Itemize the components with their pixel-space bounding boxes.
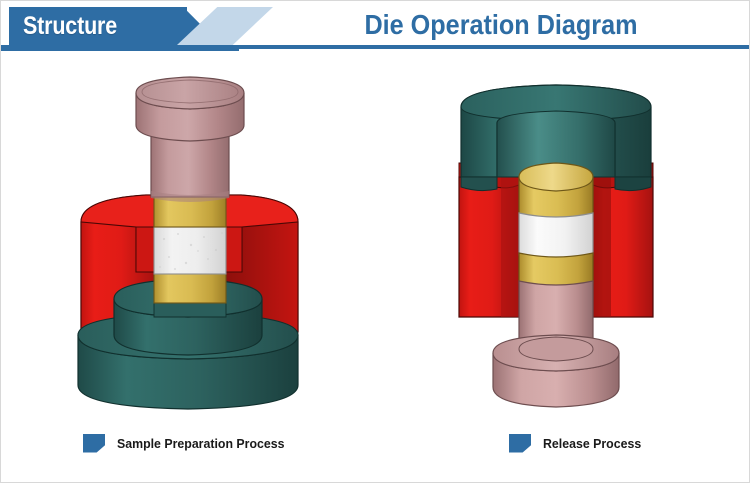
sample-pellet: [154, 227, 226, 274]
header-underline-right: [239, 45, 750, 49]
lower-pellet-ring: [154, 273, 226, 303]
page-header: Structure Die Operation Diagram: [1, 1, 750, 53]
plunger-head: [136, 77, 244, 141]
die-operation-diagram-page: Structure Die Operation Diagram: [0, 0, 750, 483]
legend-marker-icon: [509, 434, 531, 453]
diagram-release-process: [401, 67, 731, 412]
header-underline-left: [1, 45, 239, 51]
sample-pellet: [519, 213, 593, 259]
header-tag-label: Structure: [23, 7, 152, 45]
diagram-sample-preparation: [36, 67, 366, 412]
legend-label-release: Release Process: [543, 436, 641, 451]
page-title: Die Operation Diagram: [321, 5, 681, 45]
lower-pellet-ring: [519, 253, 593, 287]
upper-pellet-ring: [519, 163, 593, 219]
legend-label-sample-preparation: Sample Preparation Process: [117, 436, 284, 451]
legend-marker-icon: [83, 434, 105, 453]
plunger-flange: [493, 335, 619, 407]
legend-sample-preparation: Sample Preparation Process: [83, 432, 293, 454]
legend-release: Release Process: [509, 432, 646, 454]
